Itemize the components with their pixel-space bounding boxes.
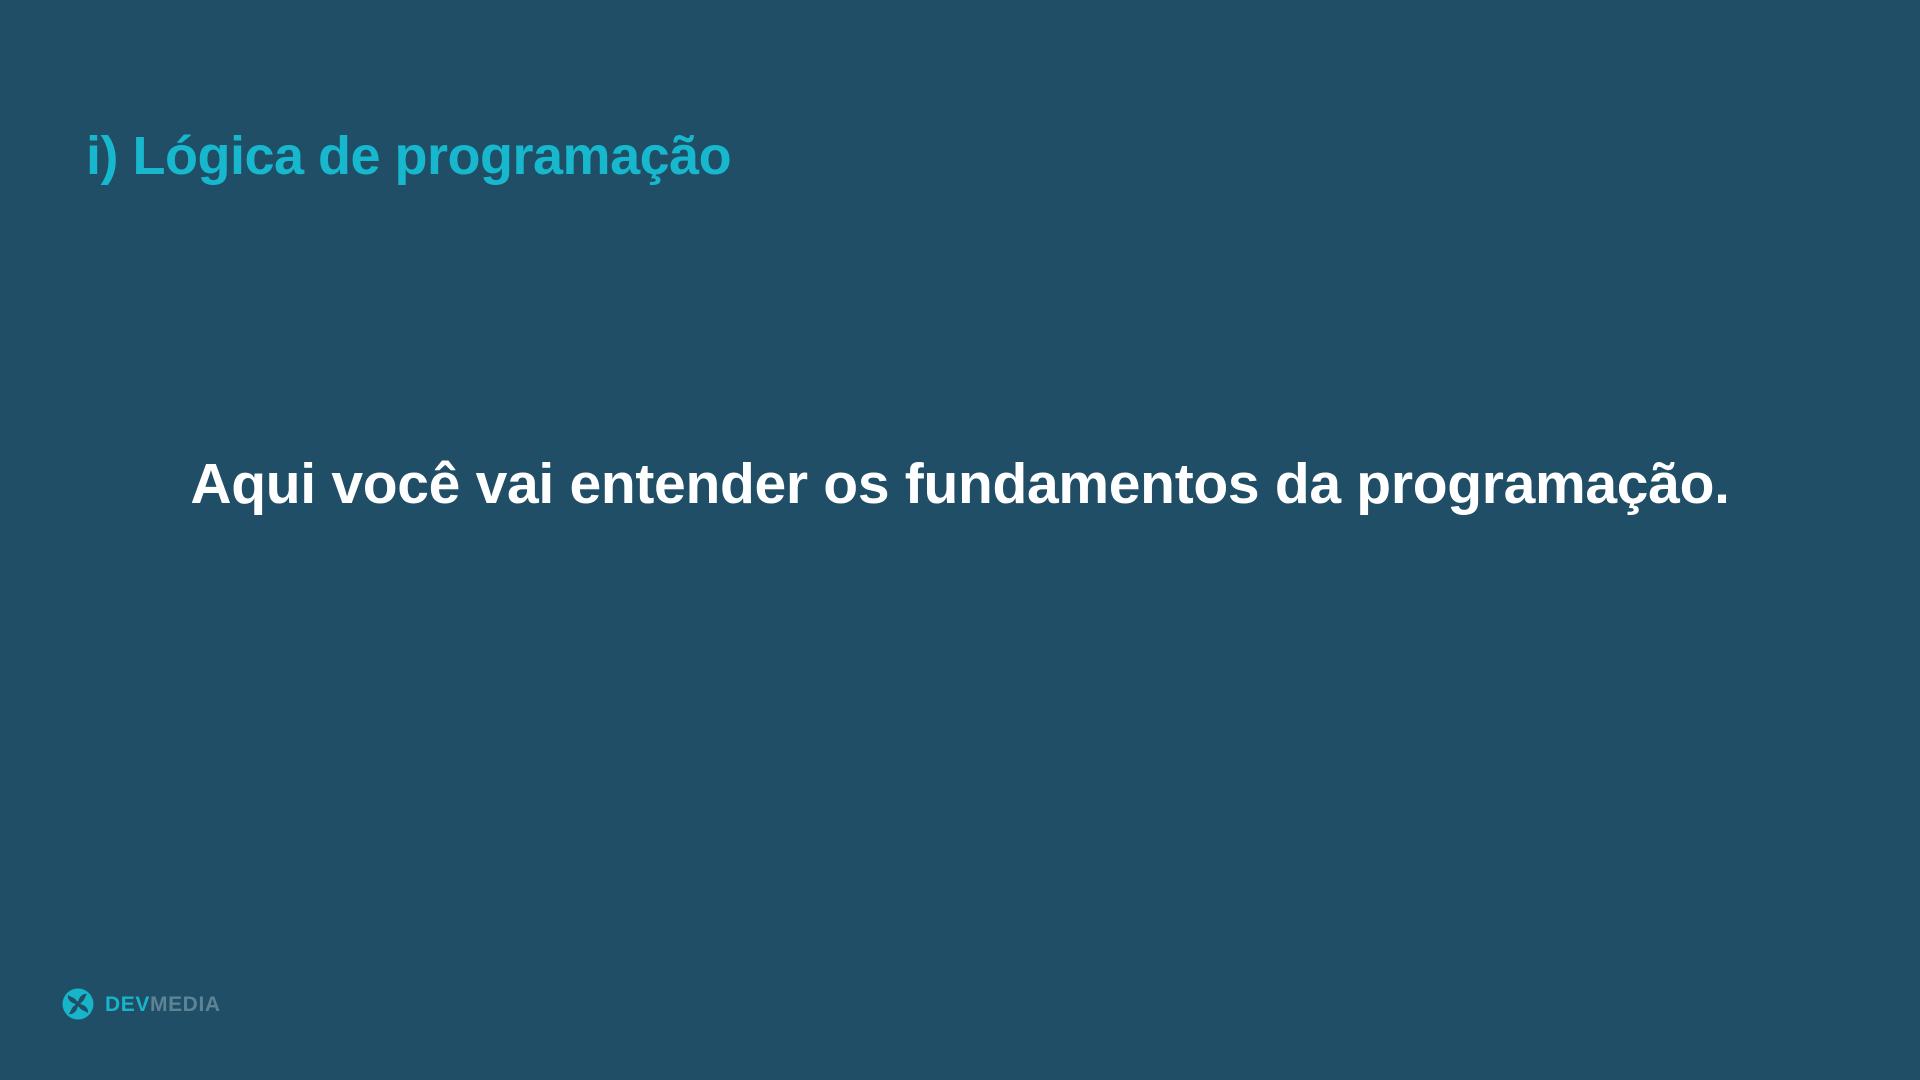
body-line-1: Aqui você vai entender os fundamentos da	[190, 452, 1340, 516]
devmedia-pinwheel-icon	[62, 988, 94, 1020]
body-paragraph: Aqui você vai entender os fundamentos da…	[120, 440, 1800, 528]
brand-name-primary: DEV	[105, 993, 150, 1016]
body-statement: Aqui você vai entender os fundamentos da…	[120, 440, 1800, 528]
brand-logo: DEVMEDIA	[62, 988, 221, 1020]
slide-canvas: i) Lógica de programação Aqui você vai e…	[0, 0, 1920, 1080]
body-line-2: programação.	[1356, 452, 1729, 516]
brand-wordmark: DEVMEDIA	[105, 994, 221, 1015]
brand-name-secondary: MEDIA	[150, 993, 221, 1016]
page-title: i) Lógica de programação	[86, 124, 731, 189]
